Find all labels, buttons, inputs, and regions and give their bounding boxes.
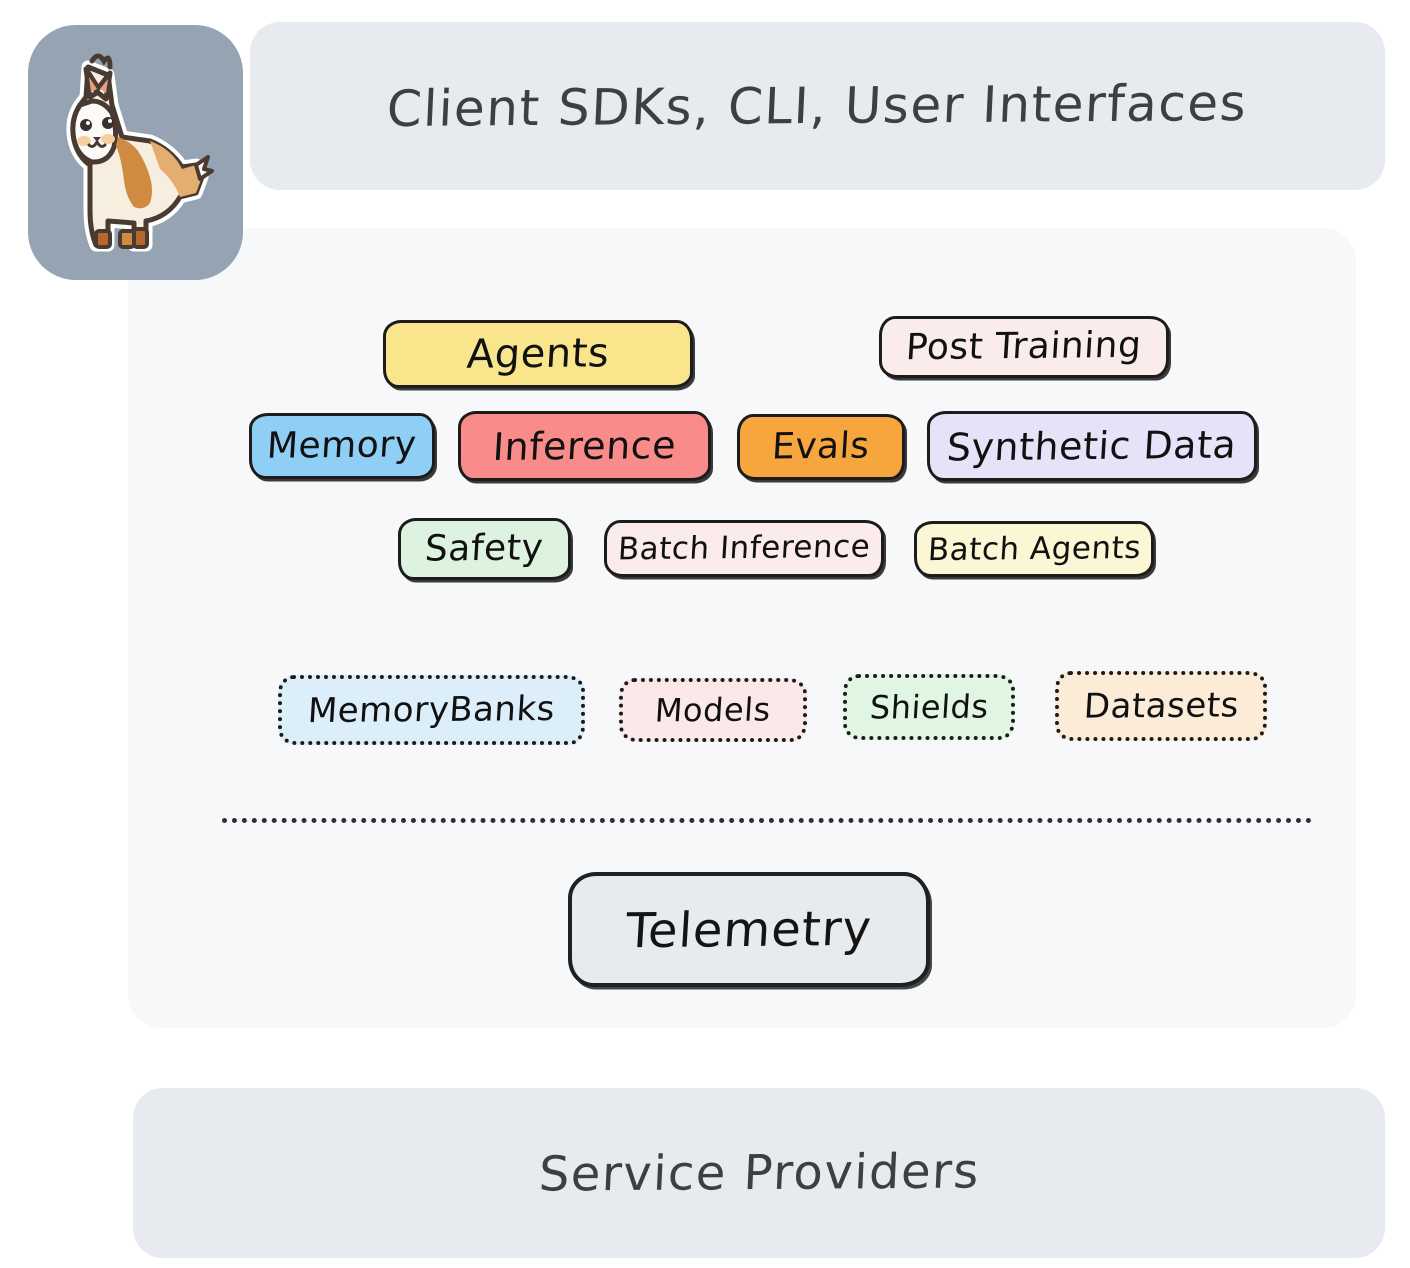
llama-icon xyxy=(46,45,226,260)
api-box-post-training-label: Post Training xyxy=(905,328,1143,366)
api-box-synthetic-data[interactable]: Synthetic Data xyxy=(927,411,1257,481)
telemetry-box-label: Telemetry xyxy=(624,900,873,959)
api-box-memory[interactable]: Memory xyxy=(249,413,435,479)
api-box-batch-agents-label: Batch Agents xyxy=(927,532,1142,565)
api-box-memory-label: Memory xyxy=(266,427,418,465)
service-providers-banner: Service Providers xyxy=(133,1088,1385,1258)
llama-logo-tile xyxy=(28,25,243,280)
api-box-post-training[interactable]: Post Training xyxy=(879,316,1169,378)
api-box-evals-label: Evals xyxy=(771,428,871,465)
resource-box-models-label: Models xyxy=(654,690,772,729)
api-box-batch-inference[interactable]: Batch Inference xyxy=(604,520,884,577)
resource-box-memorybanks-label: MemoryBanks xyxy=(307,689,556,731)
resource-box-datasets-label: Datasets xyxy=(1082,685,1239,726)
resource-box-memorybanks[interactable]: MemoryBanks xyxy=(278,675,585,745)
api-box-inference[interactable]: Inference xyxy=(458,411,711,481)
api-box-safety[interactable]: Safety xyxy=(398,518,571,580)
api-box-synthetic-data-label: Synthetic Data xyxy=(946,425,1238,466)
resource-box-shields-label: Shields xyxy=(869,687,990,726)
resource-box-datasets[interactable]: Datasets xyxy=(1055,671,1267,741)
api-box-agents-label: Agents xyxy=(466,333,611,374)
resource-box-models[interactable]: Models xyxy=(619,678,807,742)
service-providers-banner-label: Service Providers xyxy=(537,1143,980,1202)
api-box-safety-label: Safety xyxy=(424,530,544,567)
api-box-batch-agents[interactable]: Batch Agents xyxy=(914,521,1154,577)
resource-box-shields[interactable]: Shields xyxy=(843,674,1015,740)
client-interfaces-banner: Client SDKs, CLI, User Interfaces xyxy=(250,22,1385,190)
api-box-agents[interactable]: Agents xyxy=(383,320,693,388)
api-box-batch-inference-label: Batch Inference xyxy=(617,532,871,566)
telemetry-box[interactable]: Telemetry xyxy=(568,872,930,987)
api-box-inference-label: Inference xyxy=(492,426,677,466)
api-box-evals[interactable]: Evals xyxy=(737,414,905,480)
client-interfaces-banner-label: Client SDKs, CLI, User Interfaces xyxy=(386,74,1249,138)
dotted-divider xyxy=(222,818,1312,823)
